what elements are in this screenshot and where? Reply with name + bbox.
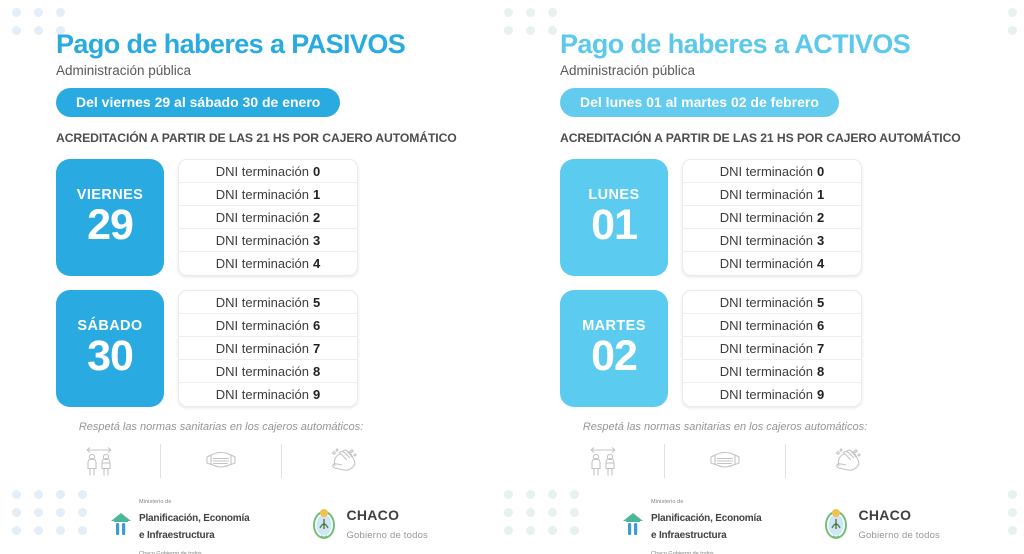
- dni-label: DNI terminación: [216, 341, 309, 356]
- dni-label: DNI terminación: [216, 318, 309, 333]
- ministry-line-1: Ministerio de: [651, 499, 683, 505]
- dni-row: DNI terminación8: [683, 360, 861, 383]
- dni-label: DNI terminación: [720, 256, 813, 271]
- dni-row: DNI terminación7: [179, 337, 357, 360]
- face-mask-icon: [195, 441, 247, 481]
- pictogram-divider: [160, 444, 161, 478]
- schedule-block: MARTES 02 DNI terminación5 DNI terminaci…: [560, 290, 1024, 407]
- pictogram-divider: [281, 444, 282, 478]
- dni-row: DNI terminación5: [179, 291, 357, 314]
- ministry-logo-text: Ministerio de Planificación, Economía e …: [651, 490, 761, 554]
- dni-label: DNI terminación: [216, 364, 309, 379]
- day-number: 02: [591, 335, 637, 379]
- schedule-block: SÁBADO 30 DNI terminación5 DNI terminaci…: [56, 290, 512, 407]
- sanitary-note-text: Respetá las normas sanitarias en los caj…: [560, 421, 890, 433]
- accreditation-note-activos: ACREDITACIÓN A PARTIR DE LAS 21 HS POR C…: [560, 131, 1024, 145]
- day-number: 30: [87, 335, 133, 379]
- dni-label: DNI terminación: [216, 210, 309, 225]
- schedule-block: LUNES 01 DNI terminación0 DNI terminació…: [560, 159, 1024, 276]
- ministry-line-2: Planificación, Economía: [139, 513, 249, 524]
- dni-digit: 0: [313, 164, 320, 179]
- dni-label: DNI terminación: [216, 187, 309, 202]
- dni-label: DNI terminación: [720, 295, 813, 310]
- dni-row: DNI terminación0: [179, 160, 357, 183]
- sanitary-notice-activos: Respetá las normas sanitarias en los caj…: [560, 421, 890, 481]
- dni-row: DNI terminación7: [683, 337, 861, 360]
- dni-digit: 4: [313, 256, 320, 271]
- pictogram-divider: [785, 444, 786, 478]
- date-range-badge-pasivos: Del viernes 29 al sábado 30 de enero: [56, 88, 340, 117]
- dni-label: DNI terminación: [216, 295, 309, 310]
- dni-digit: 8: [817, 364, 824, 379]
- day-card: LUNES 01: [560, 159, 668, 276]
- page-title-pasivos: Pago de haberes a PASIVOS: [56, 30, 512, 58]
- dni-digit: 2: [817, 210, 824, 225]
- province-logo-left: CHACO Gobierno de todos: [309, 507, 428, 543]
- subtitle-pasivos: Administración pública: [56, 63, 512, 78]
- panel-pasivos: Pago de haberes a PASIVOS Administración…: [0, 0, 512, 554]
- dni-label: DNI terminación: [720, 318, 813, 333]
- dni-row: DNI terminación3: [683, 229, 861, 252]
- panel-activos: Pago de haberes a ACTIVOS Administración…: [512, 0, 1024, 554]
- dni-digit: 9: [817, 387, 824, 402]
- dni-row: DNI terminación3: [179, 229, 357, 252]
- schedule-activos: LUNES 01 DNI terminación0 DNI terminació…: [560, 159, 1024, 407]
- hand-washing-icon: [317, 441, 369, 481]
- province-line-1: CHACO: [346, 507, 399, 523]
- province-logo-right: CHACO Gobierno de todos: [821, 507, 940, 543]
- day-card: VIERNES 29: [56, 159, 164, 276]
- dni-list: DNI terminación0 DNI terminación1 DNI te…: [682, 159, 862, 276]
- ministry-line-2: Planificación, Economía: [651, 513, 761, 524]
- dni-row: DNI terminación9: [179, 383, 357, 406]
- ministry-house-icon: [110, 512, 132, 538]
- footer-half-left: Ministerio de Planificación, Economía e …: [0, 496, 512, 554]
- province-logo-text: CHACO Gobierno de todos: [346, 507, 428, 543]
- day-card: MARTES 02: [560, 290, 668, 407]
- day-number: 29: [87, 204, 133, 248]
- chaco-shield-icon: [309, 508, 339, 542]
- dni-label: DNI terminación: [720, 210, 813, 225]
- ministry-logo-left: Ministerio de Planificación, Economía e …: [110, 490, 249, 554]
- pictogram-row: [560, 441, 890, 481]
- panels-container: Pago de haberes a PASIVOS Administración…: [0, 0, 1024, 554]
- payment-schedule-infographic: Pago de haberes a PASIVOS Administración…: [0, 0, 1024, 554]
- page-title-activos: Pago de haberes a ACTIVOS: [560, 30, 1024, 58]
- footer: Ministerio de Planificación, Economía e …: [0, 496, 1024, 554]
- dni-digit: 0: [817, 164, 824, 179]
- dni-digit: 9: [313, 387, 320, 402]
- dni-row: DNI terminación2: [683, 206, 861, 229]
- dni-label: DNI terminación: [720, 364, 813, 379]
- footer-half-right: Ministerio de Planificación, Economía e …: [512, 496, 1024, 554]
- dni-row: DNI terminación4: [683, 252, 861, 275]
- dni-row: DNI terminación6: [683, 314, 861, 337]
- dni-row: DNI terminación2: [179, 206, 357, 229]
- date-range-badge-activos: Del lunes 01 al martes 02 de febrero: [560, 88, 839, 117]
- ministry-line-1: Ministerio de: [139, 499, 171, 505]
- dni-digit: 5: [313, 295, 320, 310]
- dni-digit: 5: [817, 295, 824, 310]
- ministry-house-icon: [622, 512, 644, 538]
- subtitle-activos: Administración pública: [560, 63, 1024, 78]
- day-card: SÁBADO 30: [56, 290, 164, 407]
- dni-list: DNI terminación5 DNI terminación6 DNI te…: [682, 290, 862, 407]
- dni-label: DNI terminación: [720, 387, 813, 402]
- dni-label: DNI terminación: [216, 233, 309, 248]
- province-line-2: Gobierno de todos: [858, 530, 940, 541]
- accreditation-note-pasivos: ACREDITACIÓN A PARTIR DE LAS 21 HS POR C…: [56, 131, 512, 145]
- dni-label: DNI terminación: [720, 187, 813, 202]
- dni-label: DNI terminación: [216, 164, 309, 179]
- dni-digit: 3: [817, 233, 824, 248]
- dni-digit: 4: [817, 256, 824, 271]
- social-distancing-icon: [577, 441, 629, 481]
- ministry-logo-text: Ministerio de Planificación, Economía e …: [139, 490, 249, 554]
- dni-list: DNI terminación0 DNI terminación1 DNI te…: [178, 159, 358, 276]
- dni-row: DNI terminación0: [683, 160, 861, 183]
- social-distancing-icon: [73, 441, 125, 481]
- dni-row: DNI terminación4: [179, 252, 357, 275]
- dni-digit: 8: [313, 364, 320, 379]
- dni-list: DNI terminación5 DNI terminación6 DNI te…: [178, 290, 358, 407]
- dni-label: DNI terminación: [720, 164, 813, 179]
- sanitary-notice-pasivos: Respetá las normas sanitarias en los caj…: [56, 421, 386, 481]
- chaco-shield-icon: [821, 508, 851, 542]
- dni-row: DNI terminación6: [179, 314, 357, 337]
- sanitary-note-text: Respetá las normas sanitarias en los caj…: [56, 421, 386, 433]
- face-mask-icon: [699, 441, 751, 481]
- schedule-block: VIERNES 29 DNI terminación0 DNI terminac…: [56, 159, 512, 276]
- dni-digit: 6: [817, 318, 824, 333]
- hand-washing-icon: [821, 441, 873, 481]
- dni-digit: 1: [817, 187, 824, 202]
- province-line-1: CHACO: [858, 507, 911, 523]
- dni-row: DNI terminación9: [683, 383, 861, 406]
- dni-digit: 7: [817, 341, 824, 356]
- dni-label: DNI terminación: [216, 387, 309, 402]
- dni-digit: 6: [313, 318, 320, 333]
- ministry-line-3: e Infraestructura: [139, 530, 215, 541]
- dni-label: DNI terminación: [216, 256, 309, 271]
- dni-row: DNI terminación8: [179, 360, 357, 383]
- dni-digit: 3: [313, 233, 320, 248]
- province-line-2: Gobierno de todos: [346, 530, 428, 541]
- ministry-line-3: e Infraestructura: [651, 530, 727, 541]
- dni-digit: 7: [313, 341, 320, 356]
- dni-label: DNI terminación: [720, 341, 813, 356]
- dni-label: DNI terminación: [720, 233, 813, 248]
- pictogram-divider: [664, 444, 665, 478]
- province-logo-text: CHACO Gobierno de todos: [858, 507, 940, 543]
- dni-digit: 2: [313, 210, 320, 225]
- dni-digit: 1: [313, 187, 320, 202]
- pictogram-row: [56, 441, 386, 481]
- schedule-pasivos: VIERNES 29 DNI terminación0 DNI terminac…: [56, 159, 512, 407]
- day-number: 01: [591, 204, 637, 248]
- ministry-logo-right: Ministerio de Planificación, Economía e …: [622, 490, 761, 554]
- dni-row: DNI terminación1: [179, 183, 357, 206]
- dni-row: DNI terminación5: [683, 291, 861, 314]
- dni-row: DNI terminación1: [683, 183, 861, 206]
